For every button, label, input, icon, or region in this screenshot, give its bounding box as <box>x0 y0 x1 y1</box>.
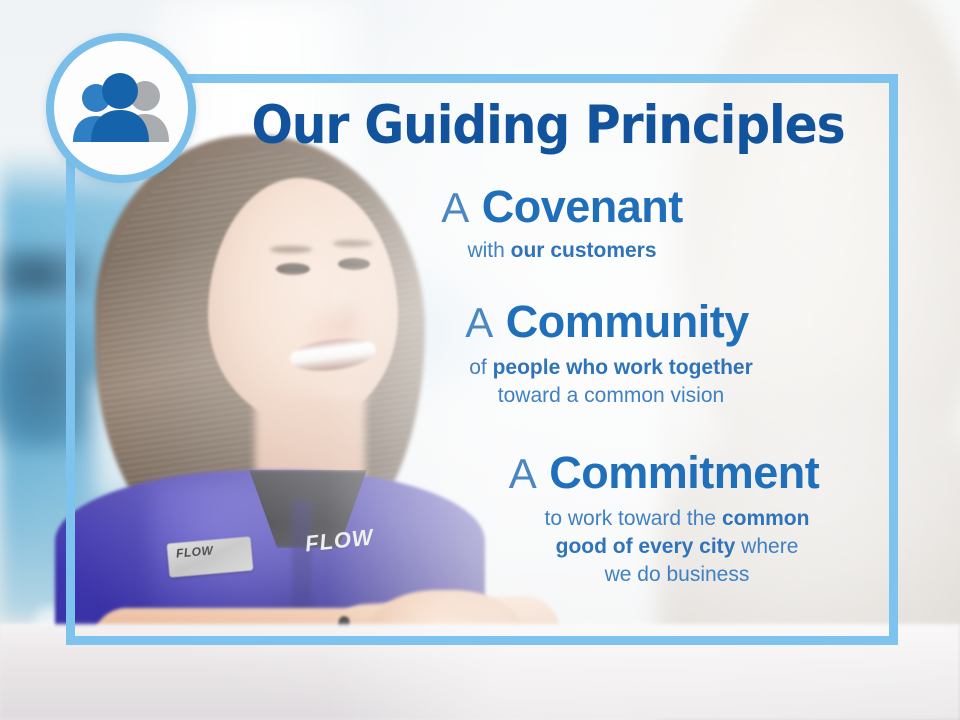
guiding-principles-poster: FLOW FLOW Our Guiding Princi <box>0 0 960 720</box>
principle-subtext-line-2: good of every city where <box>468 533 886 561</box>
principle-heading: A Covenant <box>218 180 886 235</box>
principle-article: A <box>465 299 493 346</box>
principle-subtext-plain: where <box>735 535 798 558</box>
principle-heading: A Community <box>218 295 886 350</box>
principle-subtext-line-3: we do business <box>468 561 886 589</box>
showroom-blue-car <box>0 300 110 450</box>
principle-subtext-plain: with <box>467 239 510 262</box>
principle-subtext-line-2: toward a common vision <box>336 382 886 410</box>
principle-subtext-plain: to work toward the <box>545 507 722 530</box>
principle-subtext-bold: people who work together <box>493 356 753 379</box>
principle-heading: A Commitment <box>218 446 886 501</box>
people-group-icon <box>69 72 173 144</box>
principles-list: A Covenant with our customers A Communit… <box>218 180 886 597</box>
showroom-car-window <box>0 245 95 305</box>
principle-subtext-line-1: to work toward the common <box>468 505 886 533</box>
principle-article: A <box>441 184 469 231</box>
principle-keyword: Covenant <box>482 181 683 232</box>
principle-community: A Community of people who work together … <box>218 295 886 410</box>
principle-subtext: to work toward the common good of every … <box>218 505 886 589</box>
people-badge <box>46 33 196 183</box>
principle-article: A <box>509 450 537 497</box>
principle-keyword: Commitment <box>549 447 819 498</box>
principle-keyword: Community <box>506 296 749 347</box>
principle-subtext-bold: common <box>722 507 810 530</box>
principle-subtext-bold: good of every city <box>556 535 736 558</box>
principle-subtext: of people who work together toward a com… <box>218 354 886 410</box>
page-title: Our Guiding Principles <box>244 96 851 156</box>
principle-subtext-plain: of <box>469 356 492 379</box>
principle-subtext-bold: our customers <box>511 239 657 262</box>
white-table <box>0 625 960 720</box>
principle-subtext-line-1: of people who work together <box>336 354 886 382</box>
principle-subtext: with our customers <box>218 237 886 265</box>
principle-covenant: A Covenant with our customers <box>218 180 886 265</box>
principle-commitment: A Commitment to work toward the common g… <box>218 446 886 589</box>
